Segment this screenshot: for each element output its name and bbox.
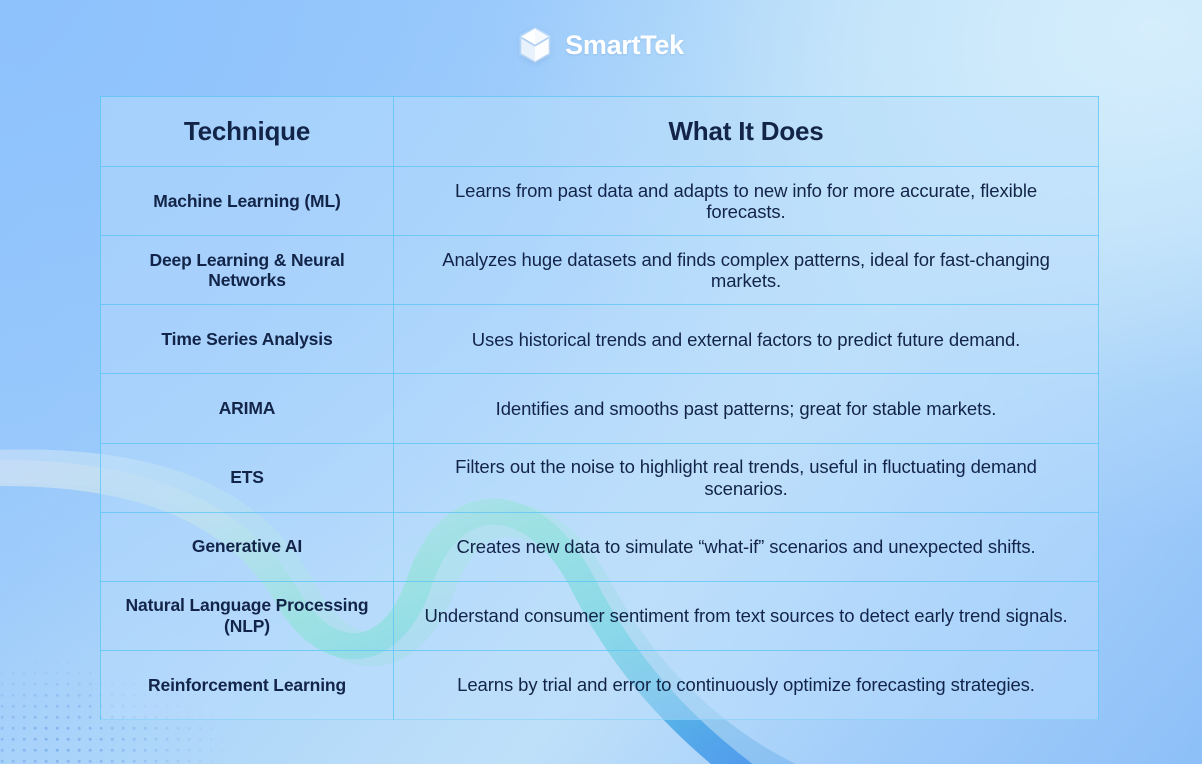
cell-technique: Natural Language Processing (NLP) bbox=[101, 581, 394, 650]
brand-logo: SmartTek bbox=[0, 26, 1202, 64]
cell-technique: Deep Learning & Neural Networks bbox=[101, 236, 394, 305]
cell-description: Understand consumer sentiment from text … bbox=[394, 581, 1099, 650]
table-row: Machine Learning (ML) Learns from past d… bbox=[101, 167, 1099, 236]
table-header-row: Technique What It Does bbox=[101, 97, 1099, 167]
techniques-table-container: Technique What It Does Machine Learning … bbox=[100, 96, 1098, 720]
column-header-what-it-does: What It Does bbox=[394, 97, 1099, 167]
cell-description: Creates new data to simulate “what-if” s… bbox=[394, 512, 1099, 581]
cube-logo-icon bbox=[518, 26, 552, 64]
table-row: Generative AI Creates new data to simula… bbox=[101, 512, 1099, 581]
table-row: ETS Filters out the noise to highlight r… bbox=[101, 443, 1099, 512]
cell-technique: ARIMA bbox=[101, 374, 394, 443]
cell-description: Learns from past data and adapts to new … bbox=[394, 167, 1099, 236]
table-row: ARIMA Identifies and smooths past patter… bbox=[101, 374, 1099, 443]
cell-description: Filters out the noise to highlight real … bbox=[394, 443, 1099, 512]
table-row: Time Series Analysis Uses historical tre… bbox=[101, 305, 1099, 374]
column-header-technique: Technique bbox=[101, 97, 394, 167]
cell-technique: ETS bbox=[101, 443, 394, 512]
table-row: Natural Language Processing (NLP) Unders… bbox=[101, 581, 1099, 650]
table-row: Reinforcement Learning Learns by trial a… bbox=[101, 650, 1099, 719]
cell-description: Analyzes huge datasets and finds complex… bbox=[394, 236, 1099, 305]
cell-technique: Generative AI bbox=[101, 512, 394, 581]
cell-description: Uses historical trends and external fact… bbox=[394, 305, 1099, 374]
table-row: Deep Learning & Neural Networks Analyzes… bbox=[101, 236, 1099, 305]
cell-technique: Time Series Analysis bbox=[101, 305, 394, 374]
cell-technique: Reinforcement Learning bbox=[101, 650, 394, 719]
cell-description: Identifies and smooths past patterns; gr… bbox=[394, 374, 1099, 443]
techniques-table: Technique What It Does Machine Learning … bbox=[100, 96, 1099, 720]
brand-name: SmartTek bbox=[565, 32, 684, 59]
cell-technique: Machine Learning (ML) bbox=[101, 167, 394, 236]
cell-description: Learns by trial and error to continuousl… bbox=[394, 650, 1099, 719]
table-body: Machine Learning (ML) Learns from past d… bbox=[101, 167, 1099, 720]
